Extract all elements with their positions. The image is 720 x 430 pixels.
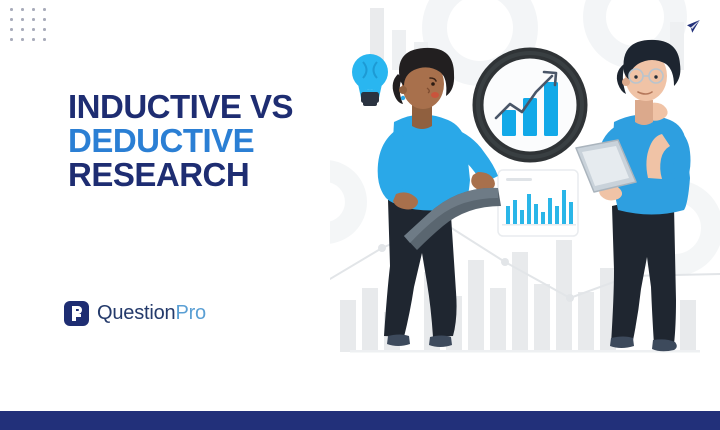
mini-bar-chart-card [498,170,578,236]
lightbulb-icon [352,54,388,106]
ground-line [350,350,700,353]
bottom-accent-bar [0,411,720,430]
page-title: INDUCTIVE VS DEDUCTIVE RESEARCH [68,90,368,192]
brand-name-part1: Question [97,302,175,324]
paper-plane-icon [684,17,702,35]
dot-grid-icon [10,8,54,48]
banner-root: INDUCTIVE VS DEDUCTIVE RESEARCH Question… [0,0,720,430]
research-team-illustration [330,0,720,400]
brand-logo: QuestionPro [64,301,206,326]
title-line-1: INDUCTIVE VS [68,90,368,124]
brand-name: QuestionPro [97,302,206,325]
title-line-3: RESEARCH [68,158,368,192]
brand-name-part2: Pro [175,302,206,324]
title-line-2: DEDUCTIVE [68,124,368,158]
questionpro-p-icon [64,301,89,326]
